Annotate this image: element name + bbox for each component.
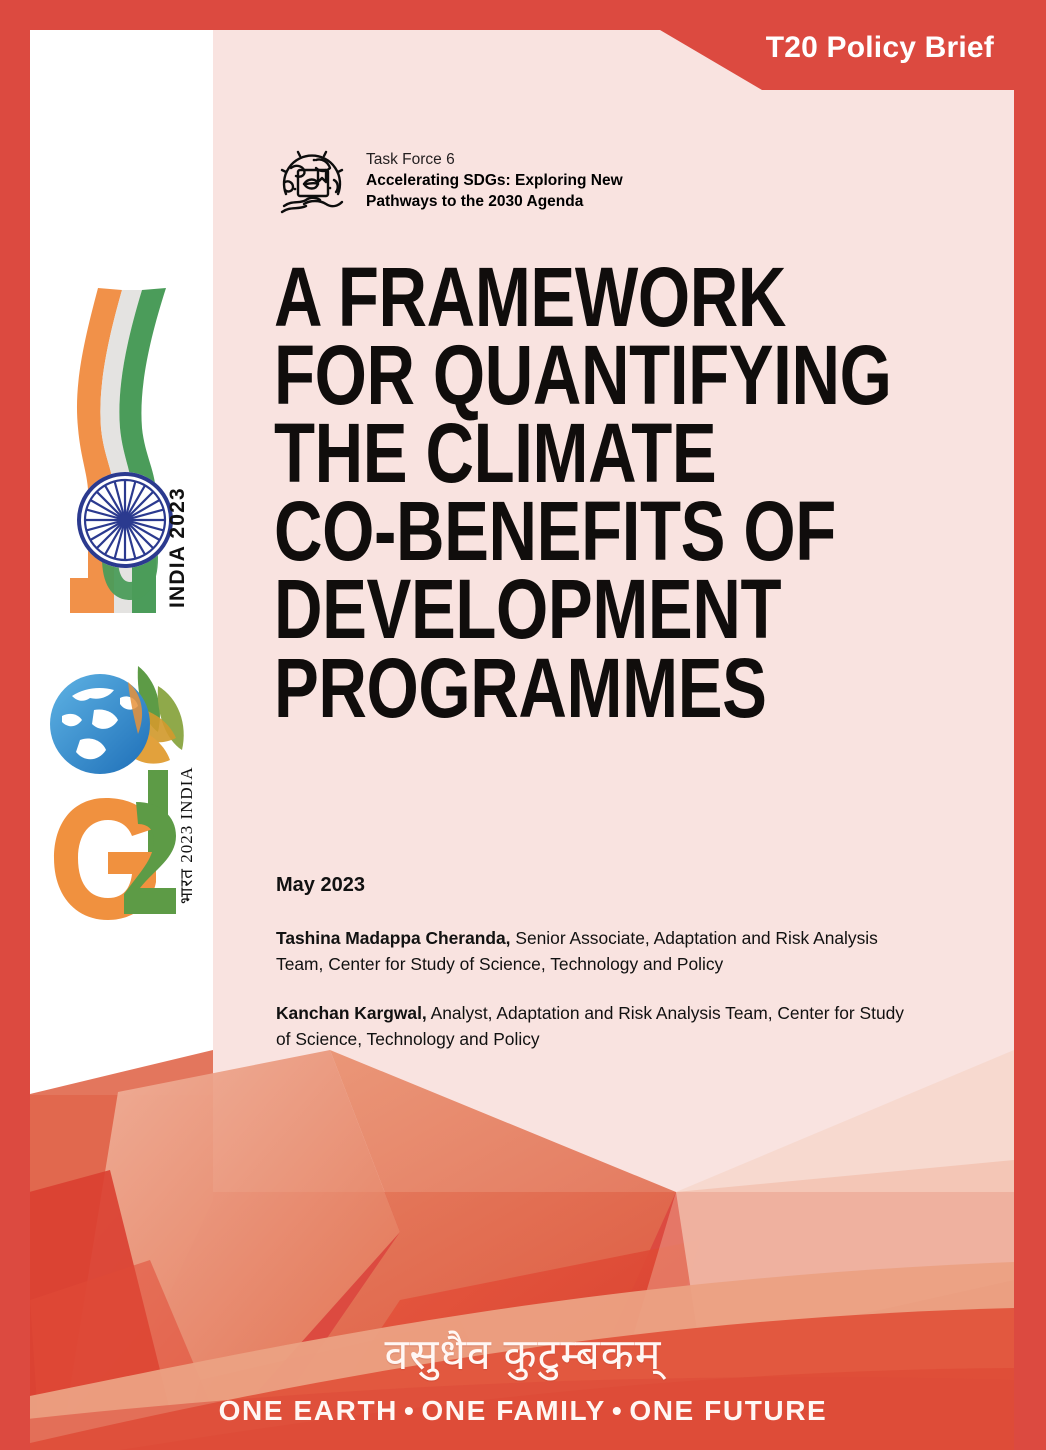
title-line: THE CLIMATE [274,414,786,492]
tagline-part: ONE EARTH [219,1395,398,1426]
author-entry: Tashina Madappa Cheranda, Senior Associa… [276,925,916,978]
cover-page: T20 Policy Brief [0,0,1046,1450]
title-line: A FRAMEWORK [274,258,786,336]
title-line: FOR QUANTIFYING [274,336,786,414]
tagline-part: ONE FAMILY [421,1395,606,1426]
author-name: Tashina Madappa Cheranda, [276,928,511,948]
tagline: ONE EARTH•ONE FAMILY•ONE FUTURE [0,1395,1046,1427]
tagline-separator: • [606,1395,629,1426]
publication-date: May 2023 [276,874,365,897]
task-force-block: Task Force 6 Accelerating SDGs: Explorin… [276,142,623,220]
t20-india-2023-logo: INDIA 2023 [52,278,202,623]
g20-logo-side-text: भारत 2023 INDIA [177,766,196,904]
task-force-theme-line-2: Pathways to the 2030 Agenda [366,192,623,213]
task-force-theme-line-1: Accelerating SDGs: Exploring New [366,171,623,192]
policy-brief-label: T20 Policy Brief [766,31,994,65]
g20-india-2023-logo: भारत 2023 INDIA [42,652,212,942]
tagline-separator: • [398,1395,421,1426]
title-line: DEVELOPMENT [274,570,786,648]
author-name: Kanchan Kargwal, [276,1003,427,1023]
sanskrit-motto: वसुधैव कुटुम्बकम् [0,1323,1046,1382]
globe-box-leaf-hands-icon [276,142,348,220]
faceted-wave-graphic [0,1050,1046,1450]
author-entry: Kanchan Kargwal, Analyst, Adaptation and… [276,1000,916,1053]
tagline-part: ONE FUTURE [629,1395,827,1426]
t20-logo-side-text: INDIA 2023 [166,487,189,608]
title-line: CO-BENEFITS OF [274,492,786,570]
page-title: A FRAMEWORK FOR QUANTIFYING THE CLIMATE … [274,258,914,727]
title-line: PROGRAMMES [274,649,786,727]
task-force-number: Task Force 6 [366,150,623,171]
